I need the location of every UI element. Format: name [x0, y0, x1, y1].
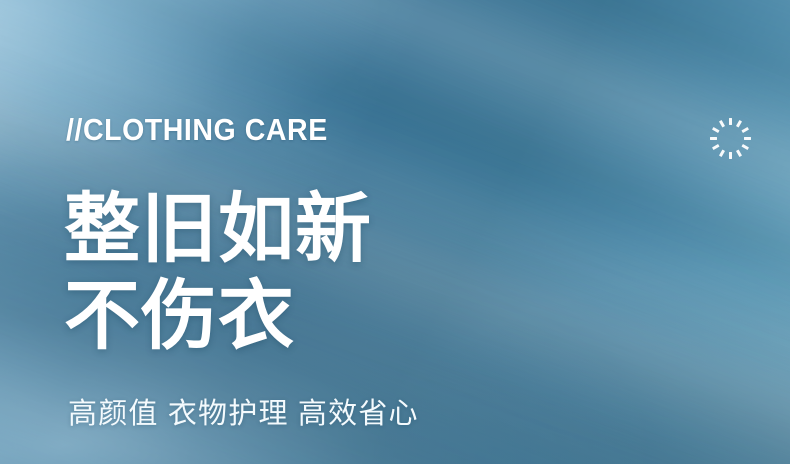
ring-tick — [711, 126, 719, 132]
banner-eyebrow-label: //CLOTHING CARE — [66, 114, 328, 145]
ring-tick — [718, 119, 724, 127]
banner-headline: 整旧如新 不伤衣 — [64, 186, 372, 360]
ring-tick — [710, 137, 717, 140]
ring-tick — [729, 152, 732, 159]
ring-tick — [744, 137, 751, 140]
ring-tick — [711, 143, 719, 149]
clothing-care-banner: //CLOTHING CARE 整旧如新 不伤衣 高颜值 衣物护理 高效省心 — [0, 0, 790, 464]
banner-headline-line-1: 整旧如新 — [64, 186, 372, 273]
banner-subtitle: 高颜值 衣物护理 高效省心 — [68, 400, 419, 429]
ring-tick — [741, 126, 749, 132]
banner-headline-line-2: 不伤衣 — [64, 273, 372, 360]
ring-tick — [729, 118, 732, 125]
ring-tick — [718, 149, 724, 157]
ring-tick — [735, 149, 741, 157]
ring-tick — [741, 143, 749, 149]
banner-content: //CLOTHING CARE 整旧如新 不伤衣 高颜值 衣物护理 高效省心 — [0, 0, 790, 464]
radial-tick-ring-icon — [706, 114, 754, 162]
ring-tick — [735, 119, 741, 127]
